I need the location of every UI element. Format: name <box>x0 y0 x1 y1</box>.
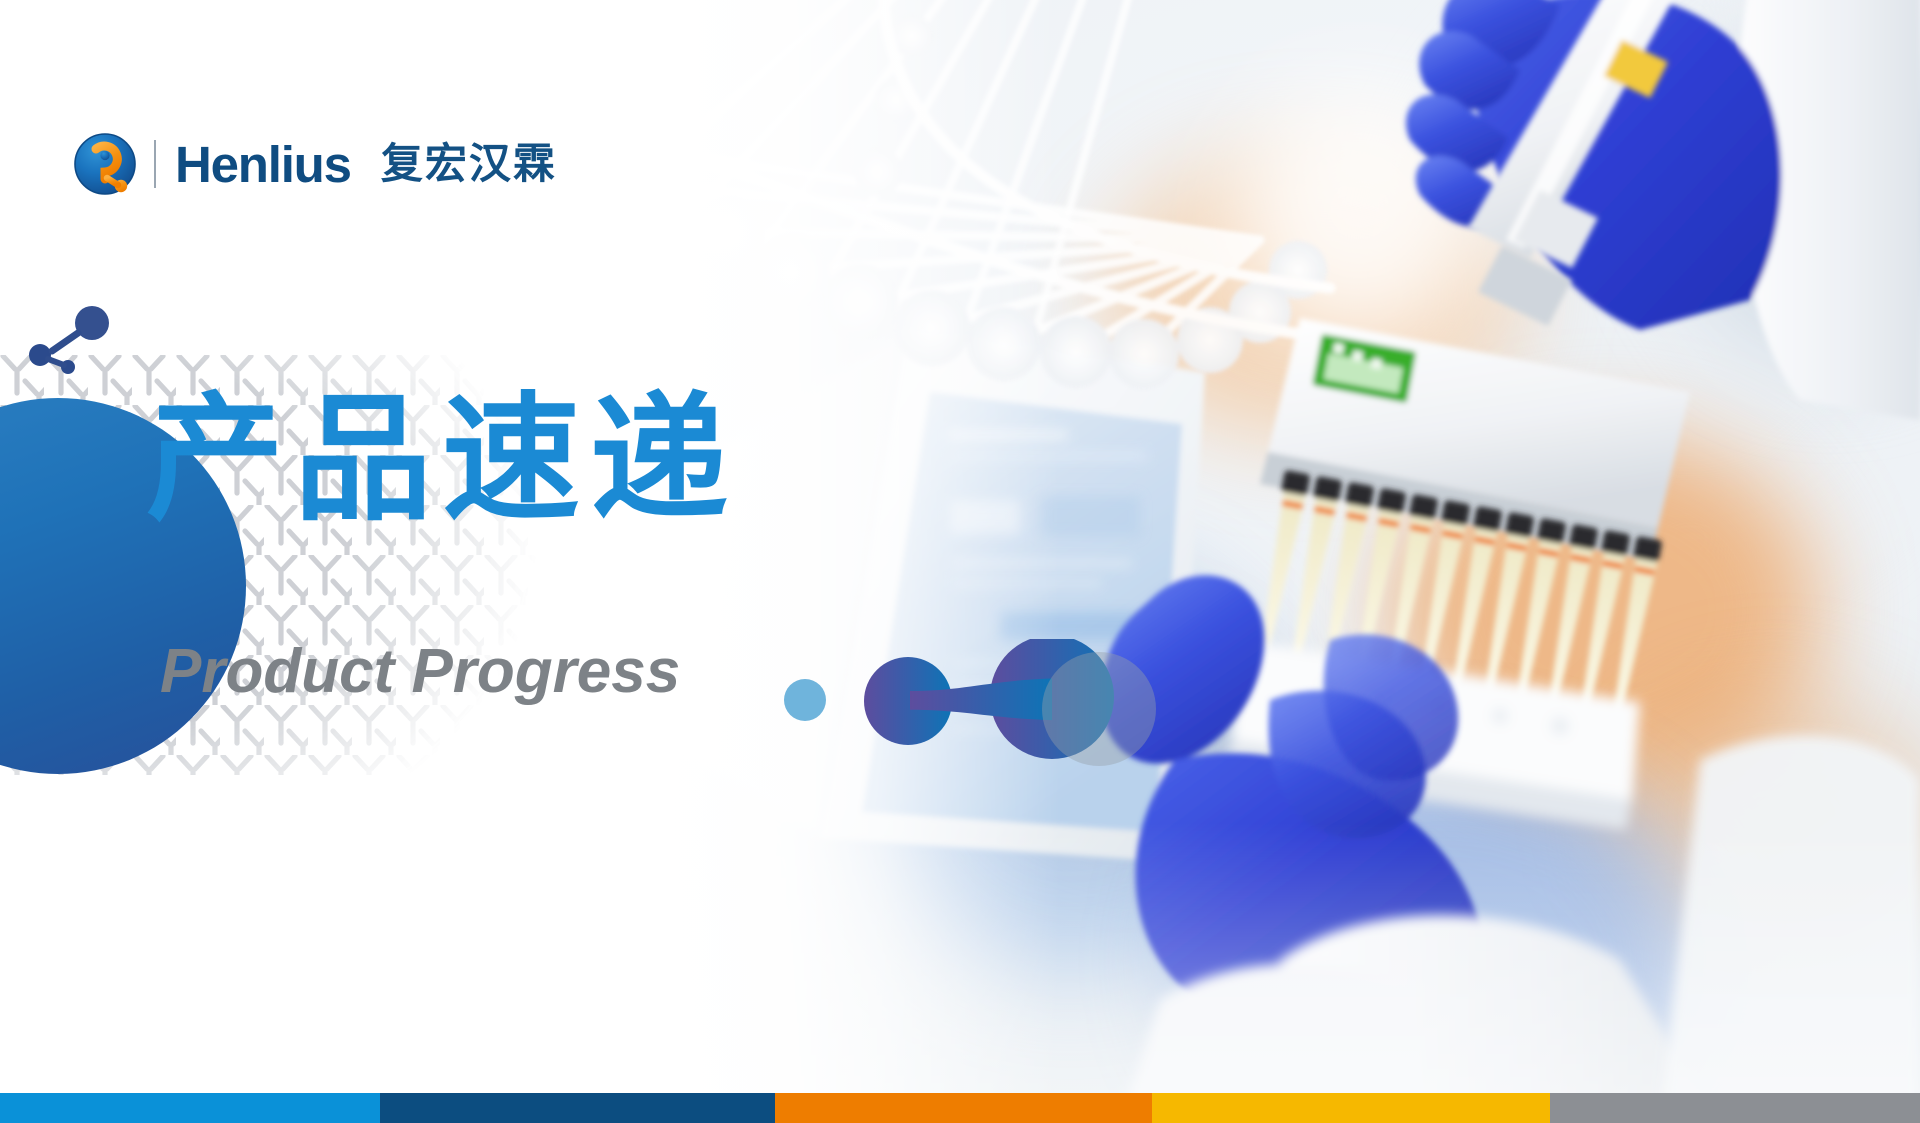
segment-orange <box>775 1093 1152 1123</box>
page-title-chinese: 产品速递 <box>146 383 738 538</box>
light-blue-dot <box>784 679 826 721</box>
gray-translucent-circle <box>1042 652 1156 766</box>
segment-navy <box>380 1093 775 1123</box>
cover-slide: Henlius 复宏汉霖 产品速递 Product Progress <box>0 0 1920 1123</box>
logo-english-wordmark: Henlius <box>175 139 351 190</box>
segment-light-blue <box>0 1093 380 1123</box>
henlius-circle-molecule-logo-icon <box>74 133 136 195</box>
page-title-english: Product Progress <box>160 641 680 703</box>
segment-gray <box>1550 1093 1920 1123</box>
logo-divider <box>154 140 156 188</box>
henlius-logo[interactable]: Henlius 复宏汉霖 <box>74 128 557 200</box>
bottom-color-bar <box>0 1093 1920 1123</box>
logo-chinese-wordmark: 复宏汉霖 <box>381 143 557 185</box>
small-molecule-icon <box>26 305 116 375</box>
segment-yellow <box>1152 1093 1550 1123</box>
